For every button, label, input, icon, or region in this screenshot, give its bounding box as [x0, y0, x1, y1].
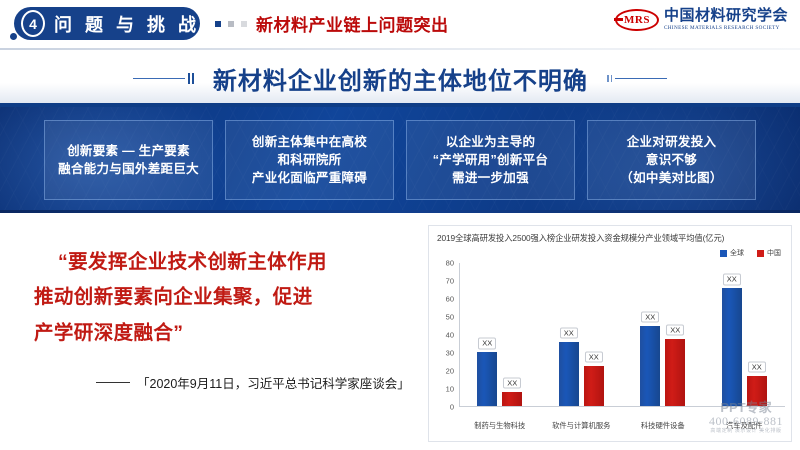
ornament-bars-right — [607, 75, 612, 82]
ornament-line-right — [615, 78, 667, 80]
slide-root: 4 问 题 与 挑 战 新材料产业链上问题突出 MRS 中国材料研究学会 CHI… — [0, 0, 800, 450]
chart-bar-china: XX — [584, 366, 604, 406]
bullet-square-2 — [228, 21, 234, 27]
chart-data-label: XX — [585, 351, 603, 363]
org-name-cn: 中国材料研究学会 — [664, 8, 788, 23]
chart-y-tick: 40 — [446, 331, 454, 340]
badge-accent-dot — [10, 33, 17, 40]
chart-x-labels: 制药与生物科技软件与计算机服务科技硬件设备汽车及配件 — [459, 421, 785, 431]
chart-data-label: XX — [748, 361, 766, 373]
chart-legend: 全球 中国 — [720, 248, 781, 258]
hero-card: 企业对研发投入 意识不够 （如中美对比图） — [587, 120, 756, 200]
chart-x-axis-line — [459, 406, 785, 407]
bullet-square-1 — [215, 21, 221, 27]
subtitle-text: 新材料企业创新的主体地位不明确 — [213, 61, 588, 96]
chart-bar-global: XX — [722, 288, 742, 406]
chart-container: 2019全球高研发投入2500强入榜企业研发投入资金规模分产业领域平均值(亿元)… — [428, 225, 792, 442]
chart-y-tick: 10 — [446, 385, 454, 394]
chart-x-label: 软件与计算机服务 — [541, 421, 623, 431]
chart-y-tick: 30 — [446, 349, 454, 358]
chart-bar-group: XXXX — [622, 263, 704, 406]
section-label: 问 题 与 挑 战 — [54, 11, 200, 37]
chart-y-tick: 0 — [450, 403, 454, 412]
mrs-logo-text: MRS — [615, 9, 659, 31]
chart-data-label: XX — [723, 274, 741, 286]
hero-card: 创新主体集中在高校 和科研院所 产业化面临严重障碍 — [225, 120, 394, 200]
hero-card-text: 创新要素 — 生产要素 融合能力与国外差距巨大 — [58, 142, 199, 178]
chart-x-label: 汽车及配件 — [704, 421, 786, 431]
chart-data-label: XX — [503, 377, 521, 389]
chart-y-tick: 20 — [446, 367, 454, 376]
chart-bar-global: XX — [559, 342, 579, 406]
chart-bar-china: XX — [747, 376, 767, 406]
legend-item-global: 全球 — [720, 248, 744, 258]
chart-y-tick: 80 — [446, 259, 454, 268]
chart-bar-global: XX — [640, 326, 660, 406]
ornament-bars-left — [188, 73, 194, 84]
section-badge: 4 问 题 与 挑 战 — [14, 7, 200, 40]
chart-plot-area: 01020304050607080 XXXXXXXXXXXXXXXX — [459, 263, 785, 407]
hero-card-text: 创新主体集中在高校 和科研院所 产业化面临严重障碍 — [252, 133, 367, 187]
legend-label-global: 全球 — [730, 248, 744, 258]
legend-swatch-global — [720, 250, 727, 257]
bullet-square-3 — [241, 21, 247, 27]
section-number: 4 — [21, 10, 45, 37]
attribution-dash-icon — [96, 382, 130, 384]
chart-y-axis: 01020304050607080 — [431, 263, 457, 407]
legend-item-china: 中国 — [757, 248, 781, 258]
chart-bar-group: XXXX — [704, 263, 786, 406]
chart-y-tick: 60 — [446, 295, 454, 304]
org-logo: MRS 中国材料研究学会 CHINESE MATERIALS RESEARCH … — [615, 8, 788, 31]
page-title: 新材料产业链上问题突出 — [256, 11, 449, 36]
chart-data-label: XX — [666, 324, 684, 336]
hero-card: 创新要素 — 生产要素 融合能力与国外差距巨大 — [44, 120, 213, 200]
chart-title: 2019全球高研发投入2500强入榜企业研发投入资金规模分产业领域平均值(亿元) — [437, 232, 787, 244]
content-area: “要发挥企业技术创新主体作用 推动创新要素向企业集聚，促进 产学研深度融合” 「… — [0, 213, 800, 450]
chart-bar-china: XX — [665, 339, 685, 406]
quote-line-1: “要发挥企业技术创新主体作用 — [58, 249, 414, 275]
chart-data-label: XX — [641, 311, 659, 323]
chart-bar-group: XXXX — [541, 263, 623, 406]
chart-bar-groups: XXXXXXXXXXXXXXXX — [459, 263, 785, 406]
chart-bar-global: XX — [477, 352, 497, 406]
legend-swatch-china — [757, 250, 764, 257]
chart-y-tick: 50 — [446, 313, 454, 322]
ornament-line-left — [133, 78, 185, 80]
subtitle-band: 新材料企业创新的主体地位不明确 — [0, 50, 800, 107]
quote-line-3: 产学研深度融合” — [34, 320, 414, 346]
chart-bar-group: XXXX — [459, 263, 541, 406]
hero-card-list: 创新要素 — 生产要素 融合能力与国外差距巨大 创新主体集中在高校 和科研院所 … — [0, 107, 800, 213]
quote-block: “要发挥企业技术创新主体作用 推动创新要素向企业集聚，促进 产学研深度融合” — [34, 249, 414, 355]
hero-card-text: 企业对研发投入 意识不够 （如中美对比图） — [620, 133, 722, 187]
chart-x-label: 科技硬件设备 — [622, 421, 704, 431]
chart-data-label: XX — [478, 338, 496, 350]
attribution-text: 「2020年9月11日，习近平总书记科学家座谈会」 — [137, 373, 410, 392]
chart-data-label: XX — [560, 327, 578, 339]
hero-card-text: 以企业为主导的 “产学研用”创新平台 需进一步加强 — [433, 133, 549, 187]
hero-banner: 创新要素 — 生产要素 融合能力与国外差距巨大 创新主体集中在高校 和科研院所 … — [0, 107, 800, 213]
mrs-logo-icon: MRS — [615, 9, 659, 31]
chart-y-tick: 70 — [446, 277, 454, 286]
quote-line-2: 推动创新要素向企业集聚，促进 — [34, 284, 414, 310]
quote-attribution: 「2020年9月11日，习近平总书记科学家座谈会」 — [96, 373, 410, 392]
org-name-en: CHINESE MATERIALS RESEARCH SOCIETY — [664, 26, 788, 31]
chart-x-label: 制药与生物科技 — [459, 421, 541, 431]
slide-header: 4 问 题 与 挑 战 新材料产业链上问题突出 MRS 中国材料研究学会 CHI… — [0, 0, 800, 50]
hero-card: 以企业为主导的 “产学研用”创新平台 需进一步加强 — [406, 120, 575, 200]
chart-bar-china: XX — [502, 392, 522, 406]
legend-label-china: 中国 — [767, 248, 781, 258]
